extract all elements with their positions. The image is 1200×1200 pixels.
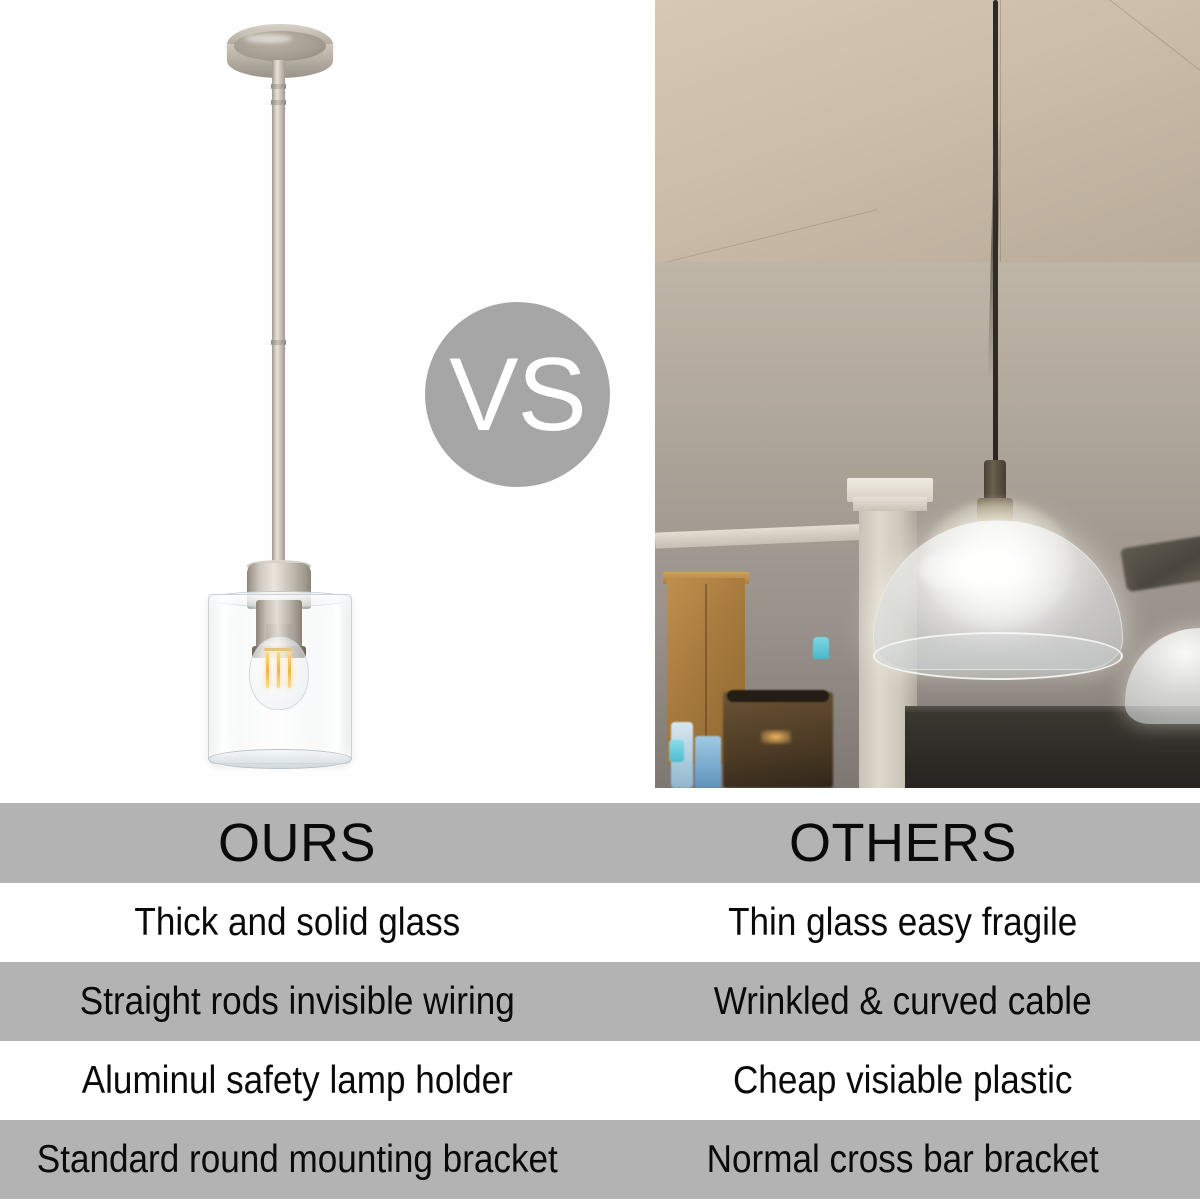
others-lifestyle-photo xyxy=(655,0,1200,788)
rod-joint xyxy=(271,100,286,105)
filament-bridge xyxy=(264,648,292,651)
ours-feature: Standard round mounting bracket xyxy=(30,1138,570,1182)
pot-rack-rail xyxy=(727,690,829,702)
dome-shade-rim xyxy=(873,632,1123,680)
header-others: OTHERS xyxy=(600,812,1200,874)
glass-highlight-right xyxy=(330,604,340,752)
table-top-gap xyxy=(0,788,1200,803)
hero-image-area: VS xyxy=(0,0,1200,788)
bulb-filament xyxy=(288,652,291,688)
warm-light-spot xyxy=(761,730,791,744)
glass-shade-bottom-rim xyxy=(208,749,352,769)
bottle xyxy=(695,736,721,788)
bulb-filament xyxy=(277,652,280,688)
down-rod xyxy=(272,60,285,580)
dome-highlight xyxy=(917,546,1037,594)
teal-wall-object xyxy=(669,740,684,762)
bulb-filament xyxy=(266,652,269,688)
others-feature: Cheap visiable plastic xyxy=(630,1059,1170,1103)
others-feature: Thin glass easy fragile xyxy=(630,901,1170,945)
ours-feature: Straight rods invisible wiring xyxy=(30,980,570,1024)
table-row: Standard round mounting bracket Normal c… xyxy=(0,1120,1200,1199)
teal-wall-object xyxy=(813,637,829,659)
table-row: Straight rods invisible wiring Wrinkled … xyxy=(0,962,1200,1041)
others-feature: Normal cross bar bracket xyxy=(630,1138,1170,1182)
table-header-row: OURS OTHERS xyxy=(0,803,1200,883)
rod-joint xyxy=(271,340,286,345)
cabinet-door-seam xyxy=(705,584,707,756)
column-capital-lower xyxy=(853,497,927,511)
ours-feature: Aluminul safety lamp holder xyxy=(30,1059,570,1103)
vs-badge-label: VS xyxy=(449,343,586,447)
rod-joint xyxy=(271,84,286,89)
comparison-table: OURS OTHERS Thick and solid glass Thin g… xyxy=(0,788,1200,1200)
others-feature: Wrinkled & curved cable xyxy=(630,980,1170,1024)
table-row: Aluminul safety lamp holder Cheap visiab… xyxy=(0,1041,1200,1120)
ours-feature: Thick and solid glass xyxy=(30,901,570,945)
table-row: Thick and solid glass Thin glass easy fr… xyxy=(0,883,1200,962)
header-ours: OURS xyxy=(0,812,600,874)
canopy-highlight xyxy=(244,34,292,43)
vs-badge: VS xyxy=(425,302,610,487)
glass-highlight-left xyxy=(222,604,231,752)
comparison-infographic: VS xyxy=(0,0,1200,1200)
